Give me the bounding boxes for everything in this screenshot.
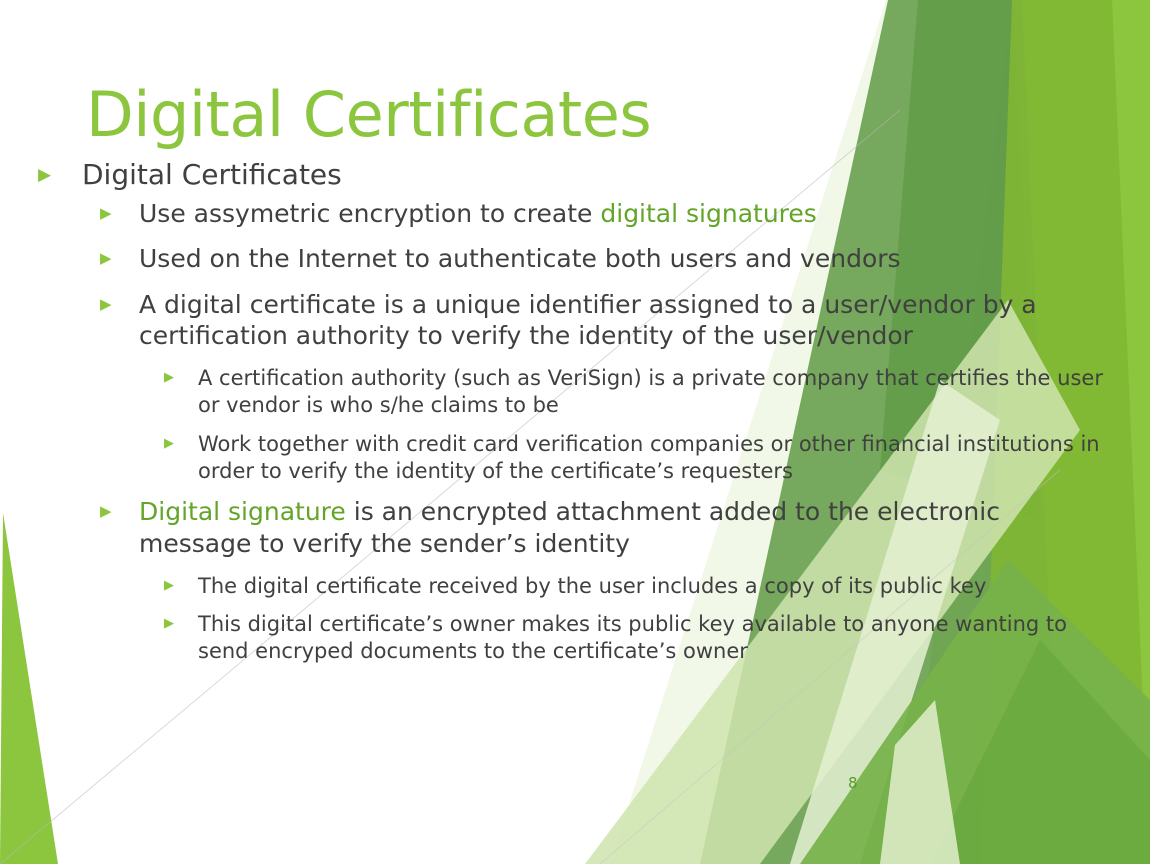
accent-text: digital signatures	[600, 199, 816, 228]
plain-text: This digital certificate’s owner makes i…	[198, 612, 1067, 663]
plain-text: Work together with credit card verificat…	[198, 432, 1100, 483]
triangle-right-icon: ▶	[100, 243, 139, 266]
slide-title: Digital Certificates	[86, 82, 651, 148]
triangle-right-icon: ▶	[100, 289, 139, 312]
bullet-text: Digital Certificates	[82, 158, 1103, 192]
triangle-right-icon: ▶	[164, 431, 198, 450]
bullet-use-assymetric-encryption: ▶Use assymetric encryption to create dig…	[38, 198, 1103, 229]
triangle-right-icon: ▶	[38, 158, 82, 184]
presentation-slide: Digital Certificates ▶Digital Certificat…	[0, 0, 1150, 864]
bullet-digital-signature-attachment: ▶Digital signature is an encrypted attac…	[38, 496, 1103, 559]
bullet-owner-makes-public-key-available: ▶This digital certificate’s owner makes …	[38, 611, 1103, 666]
bullet-text: Work together with credit card verificat…	[198, 431, 1103, 486]
bullet-digital-certificate-unique-identifier: ▶A digital certificate is a unique ident…	[38, 289, 1103, 352]
bullet-certificate-includes-public-key: ▶The digital certificate received by the…	[38, 573, 1103, 600]
bullet-text: The digital certificate received by the …	[198, 573, 1103, 600]
plain-text: Used on the Internet to authenticate bot…	[139, 244, 901, 273]
plain-text: Use assymetric encryption to create	[139, 199, 600, 228]
triangle-right-icon: ▶	[100, 198, 139, 221]
bullet-text: A certification authority (such as VeriS…	[198, 365, 1103, 420]
bullet-text: This digital certificate’s owner makes i…	[198, 611, 1103, 666]
triangle-right-icon: ▶	[100, 496, 139, 519]
triangle-right-icon: ▶	[164, 611, 198, 630]
bullet-digital-certificates: ▶Digital Certificates	[38, 158, 1103, 192]
deco-small-pale-triangle	[880, 700, 960, 864]
triangle-right-icon: ▶	[164, 573, 198, 592]
plain-text: Digital Certificates	[82, 158, 342, 191]
plain-text: A certification authority (such as VeriS…	[198, 366, 1103, 417]
bullet-work-together-credit-card: ▶Work together with credit card verifica…	[38, 431, 1103, 486]
triangle-right-icon: ▶	[164, 365, 198, 384]
accent-text: Digital signature	[139, 497, 346, 526]
bullet-text: A digital certificate is a unique identi…	[139, 289, 1103, 352]
plain-text: The digital certificate received by the …	[198, 574, 986, 598]
plain-text: A digital certificate is a unique identi…	[139, 290, 1037, 350]
bullet-text: Use assymetric encryption to create digi…	[139, 198, 1103, 229]
slide-number: 8	[848, 774, 858, 792]
bullet-text: Digital signature is an encrypted attach…	[139, 496, 1103, 559]
slide-body-content: ▶Digital Certificates▶Use assymetric enc…	[38, 158, 1103, 677]
bullet-text: Used on the Internet to authenticate bot…	[139, 243, 1103, 274]
bullet-used-on-internet: ▶Used on the Internet to authenticate bo…	[38, 243, 1103, 274]
bullet-certification-authority-verisign: ▶A certification authority (such as Veri…	[38, 365, 1103, 420]
